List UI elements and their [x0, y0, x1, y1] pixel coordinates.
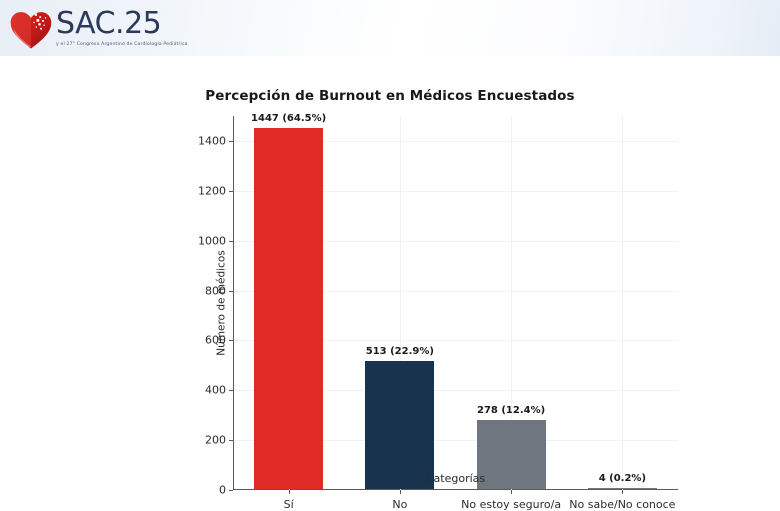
plot-area: Número de médicos 0200400600800100012001… [233, 116, 678, 490]
y-tick-mark [229, 440, 233, 441]
chart-figure: Percepción de Burnout en Médicos Encuest… [0, 56, 780, 467]
y-tick-label: 400 [205, 384, 226, 397]
y-tick-label: 800 [205, 284, 226, 297]
page-header-band: SAC.25 y el 27° Congreso Argentino de Ca… [0, 0, 780, 56]
y-tick-mark [229, 490, 233, 491]
x-tick-mark [400, 490, 401, 494]
y-tick-label: 1000 [198, 234, 226, 247]
x-tick-label: Sí [284, 498, 294, 511]
bar-2: 513 (22.9%) [365, 361, 434, 489]
x-tick-label: No estoy seguro/a [461, 498, 561, 511]
logo-title: SAC.25 [56, 8, 188, 40]
bar-value-label: 278 (12.4%) [477, 405, 545, 416]
y-tick-label: 0 [219, 484, 226, 497]
logo-subtitle: y el 27° Congreso Argentino de Cardiolog… [56, 41, 188, 48]
x-tick-mark [289, 490, 290, 494]
bar-4: 4 (0.2%) [588, 488, 657, 489]
y-tick-mark [229, 241, 233, 242]
x-tick-label: No sabe/No conoce [569, 498, 675, 511]
x-tick-mark [622, 490, 623, 494]
gridline-vertical [622, 116, 623, 490]
y-tick-mark [229, 191, 233, 192]
y-tick-mark [229, 291, 233, 292]
y-tick-label: 1400 [198, 134, 226, 147]
chart-title: Percepción de Burnout en Médicos Encuest… [0, 88, 780, 104]
bar-value-label: 1447 (64.5%) [251, 113, 326, 124]
y-tick-mark [229, 390, 233, 391]
y-tick-label: 200 [205, 434, 226, 447]
y-tick-mark [229, 141, 233, 142]
y-tick-mark [229, 340, 233, 341]
sac-logo: SAC.25 y el 27° Congreso Argentino de Ca… [8, 4, 188, 54]
heart-icon [8, 8, 54, 54]
y-axis-line [233, 116, 234, 490]
x-tick-label: No [392, 498, 407, 511]
logo-text-block: SAC.25 y el 27° Congreso Argentino de Ca… [56, 8, 188, 48]
y-tick-label: 1200 [198, 184, 226, 197]
y-tick-label: 600 [205, 334, 226, 347]
x-axis-label: Categorías [233, 472, 678, 485]
bar-1: 1447 (64.5%) [254, 128, 323, 489]
bar-value-label: 513 (22.9%) [366, 346, 434, 357]
x-tick-mark [511, 490, 512, 494]
